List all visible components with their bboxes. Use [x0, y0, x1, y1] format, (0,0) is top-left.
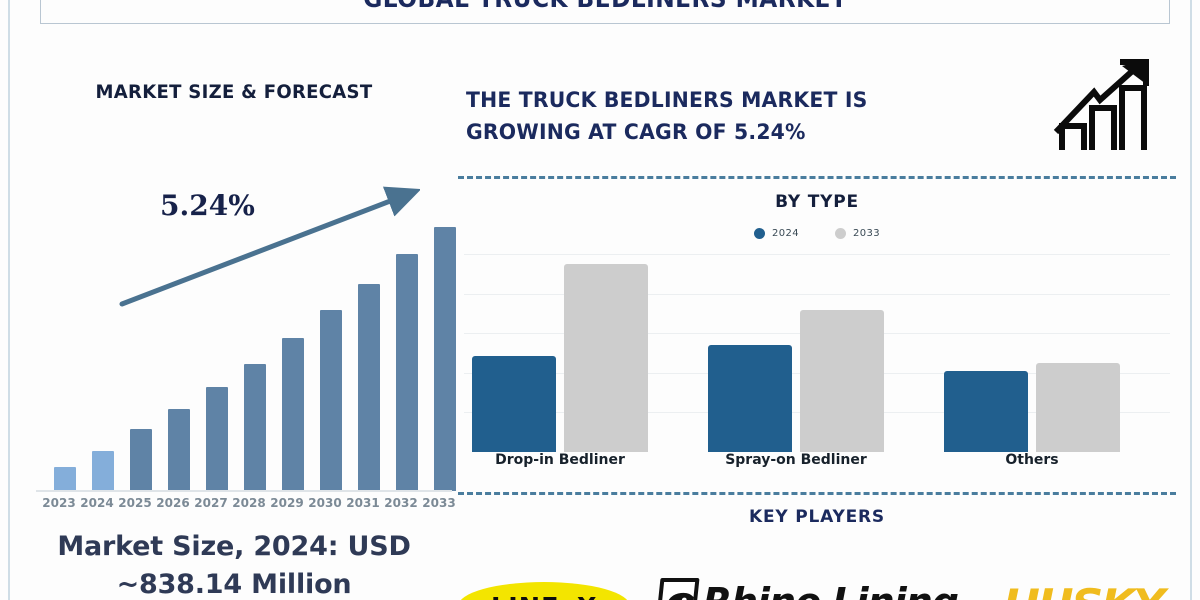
- forecast-bar: [168, 409, 190, 491]
- logo-husky: HUSKY: [1003, 580, 1178, 600]
- forecast-bar: [244, 364, 266, 491]
- by-type-bar: [944, 371, 1028, 452]
- gridline: [464, 254, 1170, 255]
- legend-label: 2033: [853, 228, 880, 239]
- chart-baseline: [36, 490, 452, 492]
- logo-husky-text: HUSKY: [1003, 580, 1187, 600]
- year-label: 2027: [192, 496, 230, 510]
- market-size-value: Market Size, 2024: USD ~838.14 Million: [10, 528, 458, 600]
- year-label: 2032: [382, 496, 420, 510]
- forecast-bar: [206, 387, 228, 491]
- year-label: 2023: [40, 496, 78, 510]
- legend-item: 2033: [835, 228, 880, 239]
- legend-item: 2024: [754, 228, 799, 239]
- logo-line-x-word: LINE: [491, 592, 560, 600]
- year-label: 2028: [230, 496, 268, 510]
- legend-color-dot: [835, 228, 846, 239]
- logo-rhino-lining-text: Rhino Lining: [703, 580, 958, 600]
- category-label: Drop-in Bedliner: [472, 452, 648, 468]
- forecast-bar: [92, 451, 114, 491]
- by-type-bar: [800, 310, 884, 452]
- category-label: Others: [944, 452, 1120, 468]
- logo-line-x: LINE X: [458, 582, 630, 600]
- category-label: Spray-on Bedliner: [708, 452, 884, 468]
- logo-line-x-text: LINE X: [491, 592, 598, 600]
- forecast-bar: [358, 284, 380, 491]
- by-type-bar: [472, 356, 556, 452]
- section-divider-bottom: [458, 492, 1176, 495]
- title-bar: GLOBAL TRUCK BEDLINERS MARKET: [40, 0, 1170, 24]
- forecast-bar: [130, 429, 152, 491]
- key-players-heading: KEY PLAYERS: [458, 507, 1176, 527]
- key-players-logos: LINE X Rhino Lining HUSKY: [458, 566, 1176, 600]
- logo-line-x-suffix: X: [577, 592, 598, 600]
- by-type-category-labels: Drop-in BedlinerSpray-on BedlinerOthers: [464, 452, 1170, 476]
- by-type-bar: [1036, 363, 1120, 452]
- cagr-statement-line1: THE TRUCK BEDLINERS MARKET IS: [466, 84, 1009, 116]
- by-type-bar: [564, 264, 648, 452]
- year-label: 2033: [420, 496, 458, 510]
- by-type-heading: BY TYPE: [458, 192, 1176, 212]
- year-label: 2031: [344, 496, 382, 510]
- logo-rhino-lining: Rhino Lining: [658, 574, 958, 600]
- section-divider-top: [458, 176, 1176, 179]
- legend-color-dot: [754, 228, 765, 239]
- year-axis-labels: 2023202420252026202720282029203020312032…: [34, 496, 454, 518]
- forecast-bar: [320, 310, 342, 491]
- by-type-bar-chart: [464, 254, 1170, 452]
- market-detail-panel: THE TRUCK BEDLINERS MARKET IS GROWING AT…: [458, 26, 1192, 600]
- year-label: 2030: [306, 496, 344, 510]
- legend-label: 2024: [772, 228, 799, 239]
- forecast-bar: [282, 338, 304, 491]
- market-size-heading: MARKET SIZE & FORECAST: [21, 81, 447, 103]
- year-label: 2024: [78, 496, 116, 510]
- by-type-bar: [708, 345, 792, 452]
- rhino-head-icon: [655, 578, 699, 600]
- infographic-page: GLOBAL TRUCK BEDLINERS MARKET MARKET SIZ…: [0, 0, 1200, 600]
- market-size-value-line2: ~838.14 Million: [10, 566, 458, 600]
- market-size-panel: MARKET SIZE & FORECAST 5.24% 20232024202…: [10, 26, 458, 600]
- year-label: 2029: [268, 496, 306, 510]
- cagr-statement: THE TRUCK BEDLINERS MARKET IS GROWING AT…: [466, 84, 1009, 148]
- year-label: 2026: [154, 496, 192, 510]
- market-size-bar-chart: [40, 201, 450, 491]
- year-label: 2025: [116, 496, 154, 510]
- market-size-value-line1: Market Size, 2024: USD: [10, 528, 458, 566]
- cagr-statement-line2: GROWING AT CAGR OF 5.24%: [466, 116, 1009, 148]
- forecast-bar: [396, 254, 418, 491]
- forecast-bar: [54, 467, 76, 491]
- forecast-bar: [434, 227, 456, 491]
- by-type-legend: 20242033: [458, 228, 1176, 239]
- growth-bar-chart-arrow-icon: [1048, 56, 1158, 156]
- page-title: GLOBAL TRUCK BEDLINERS MARKET: [363, 0, 847, 13]
